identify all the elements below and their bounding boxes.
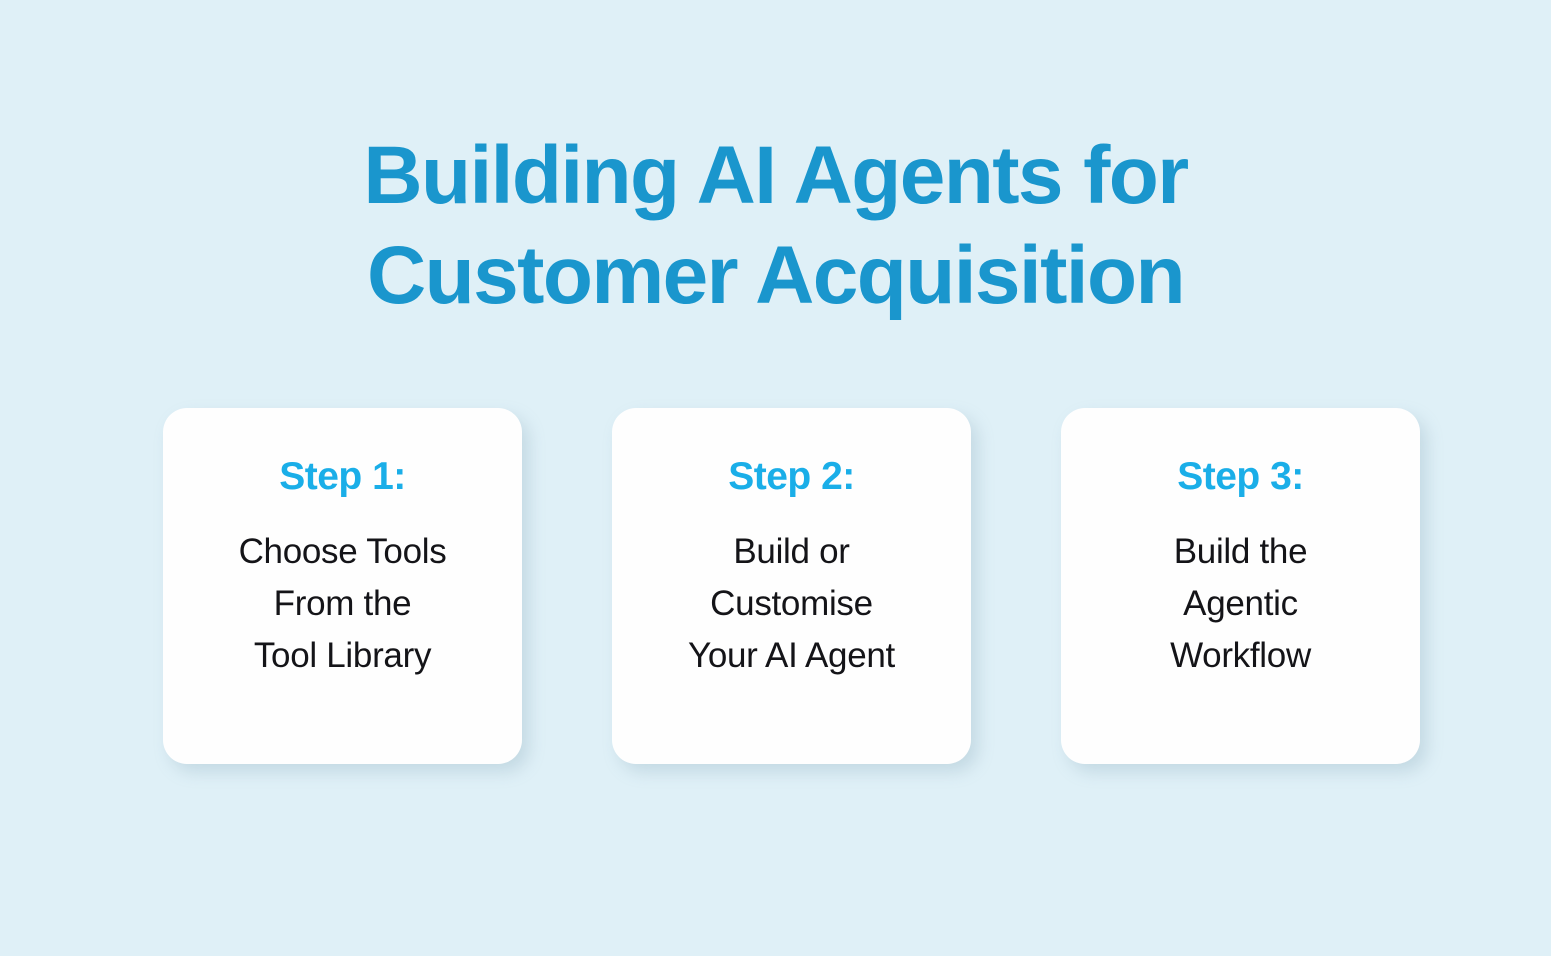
step-card-3: Step 3: Build the Agentic Workflow: [1061, 408, 1420, 764]
step-card-3-label: Step 3:: [1079, 454, 1402, 500]
page-title-line-1: Building AI Agents for: [0, 126, 1551, 226]
step-card-1-body-line-1: Choose Tools: [181, 526, 504, 578]
step-card-2-body-line-1: Build or: [630, 526, 953, 578]
step-card-3-body-line-3: Workflow: [1079, 630, 1402, 682]
step-card-2-body-line-3: Your AI Agent: [630, 630, 953, 682]
step-card-2-label: Step 2:: [630, 454, 953, 500]
step-card-2-body-line-2: Customise: [630, 578, 953, 630]
step-card-1-label: Step 1:: [181, 454, 504, 500]
infographic-page: Building AI Agents for Customer Acquisit…: [0, 0, 1551, 956]
step-card-1-body-line-3: Tool Library: [181, 630, 504, 682]
page-title-line-2: Customer Acquisition: [0, 226, 1551, 326]
step-card-1-body: Choose Tools From the Tool Library: [181, 526, 504, 682]
step-card-1: Step 1: Choose Tools From the Tool Libra…: [163, 408, 522, 764]
step-card-3-body-line-1: Build the: [1079, 526, 1402, 578]
step-card-2: Step 2: Build or Customise Your AI Agent: [612, 408, 971, 764]
step-card-2-body: Build or Customise Your AI Agent: [630, 526, 953, 682]
steps-card-row: Step 1: Choose Tools From the Tool Libra…: [163, 408, 1420, 764]
page-title: Building AI Agents for Customer Acquisit…: [0, 126, 1551, 326]
step-card-3-body: Build the Agentic Workflow: [1079, 526, 1402, 682]
step-card-1-body-line-2: From the: [181, 578, 504, 630]
step-card-3-body-line-2: Agentic: [1079, 578, 1402, 630]
